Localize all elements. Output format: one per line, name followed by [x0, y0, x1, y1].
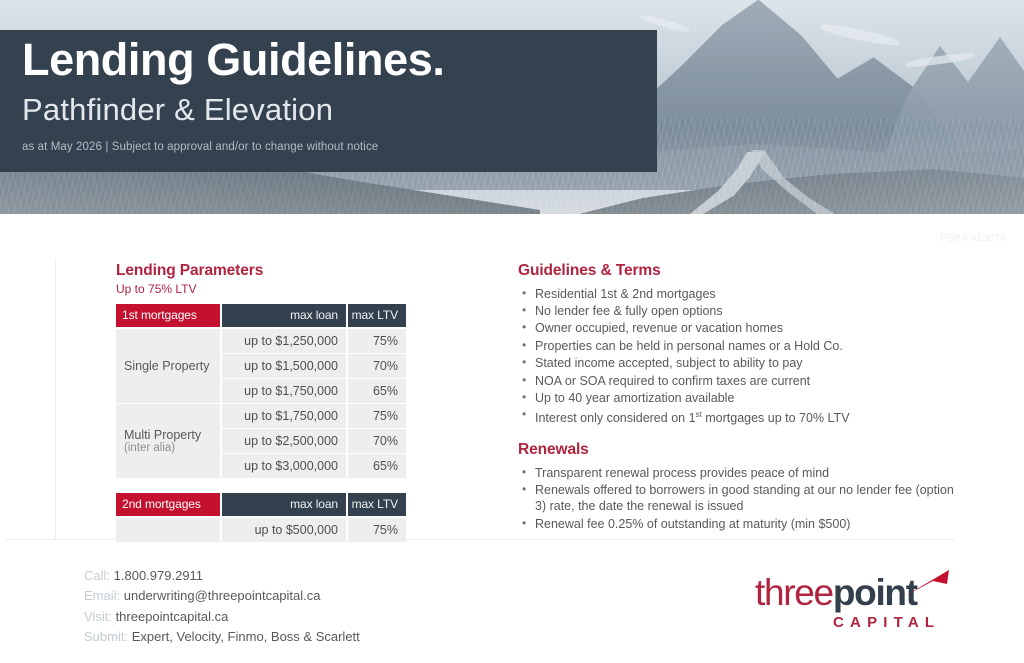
max-ltv-value: 65% [348, 378, 406, 403]
contact-row-email: Email: underwriting@threepointcapital.ca [84, 586, 360, 606]
max-ltv-value: 75% [348, 517, 406, 542]
arrow-icon [903, 568, 951, 598]
second-mortgages-table: 2nd mortgages max loan max LTV up to $50… [116, 493, 406, 542]
lending-parameters-title: Lending Parameters [116, 262, 410, 281]
contact-value-website[interactable]: threepointcapital.ca [116, 609, 229, 624]
max-loan-value: up to $1,750,000 [222, 403, 346, 428]
threepoint-capital-logo: threepoint CAPITAL [755, 570, 965, 640]
interest-only-text-before: Interest only considered on 1 [535, 412, 696, 426]
max-ltv-value: 75% [348, 403, 406, 428]
hero-banner: Lending Guidelines. Pathfinder & Elevati… [0, 0, 1024, 214]
contact-label-visit: Visit: [84, 609, 112, 624]
contact-label-call: Call: [84, 568, 110, 583]
renewals-title: Renewals [518, 441, 958, 460]
category-label: Multi Property [124, 428, 201, 442]
guidelines-title: Guidelines & Terms [518, 262, 958, 281]
disclaimer-note: as at May 2026 | Subject to approval and… [22, 141, 378, 153]
page-subtitle: Pathfinder & Elevation [22, 94, 333, 125]
contact-value-submit-portals: Expert, Velocity, Finmo, Boss & Scarlett [132, 629, 360, 644]
interest-only-text-after: mortgages up to 70% LTV [702, 412, 850, 426]
col-header-max-ltv: max LTV [348, 304, 406, 328]
contact-row-visit: Visit: threepointcapital.ca [84, 607, 360, 627]
contact-block: Call: 1.800.979.2911 Email: underwriting… [84, 566, 360, 647]
category-label: Single Property [124, 359, 209, 373]
list-item: Residential 1st & 2nd mortgages [518, 286, 958, 302]
category-sublabel: (inter alia) [124, 442, 220, 454]
list-item: No lender fee & fully open options [518, 303, 958, 319]
contact-row-submit: Submit: Expert, Velocity, Finmo, Boss & … [84, 627, 360, 647]
max-ltv-value: 65% [348, 453, 406, 478]
col-header-max-loan: max loan [222, 304, 346, 328]
list-item: Properties can be held in personal names… [518, 338, 958, 354]
contact-label-email: Email: [84, 588, 120, 603]
col-header-max-ltv: max LTV [348, 493, 406, 517]
list-item: Owner occupied, revenue or vacation home… [518, 320, 958, 336]
max-loan-value: up to $1,750,000 [222, 378, 346, 403]
logo-wordmark: threepoint [755, 574, 917, 611]
category-empty [116, 517, 220, 542]
list-item: Stated income accepted, subject to abili… [518, 355, 958, 371]
list-item-interest-only: Interest only considered on 1st mortgage… [518, 407, 958, 427]
category-single-property: Single Property [116, 328, 220, 404]
max-ltv-value: 70% [348, 353, 406, 378]
max-loan-value: up to $3,000,000 [222, 453, 346, 478]
contact-label-submit: Submit: [84, 629, 128, 644]
second-mortgages-label: 2nd mortgages [116, 493, 220, 517]
max-loan-value: up to $1,250,000 [222, 328, 346, 354]
first-mortgages-label: 1st mortgages [116, 304, 220, 328]
page-title: Lending Guidelines. [22, 37, 444, 82]
hero-title-panel: Lending Guidelines. Pathfinder & Elevati… [0, 30, 657, 172]
lending-parameters-section: Lending Parameters Up to 75% LTV 1st mor… [116, 262, 410, 542]
lending-parameters-subtitle: Up to 75% LTV [116, 282, 410, 296]
max-loan-value: up to $2,500,000 [222, 428, 346, 453]
contact-row-call: Call: 1.800.979.2911 [84, 566, 360, 586]
list-item: Up to 40 year amortization available [518, 390, 958, 406]
list-item: Transparent renewal process provides pea… [518, 465, 958, 481]
contact-value-email[interactable]: underwriting@threepointcapital.ca [124, 588, 321, 603]
logo-tagline: CAPITAL [833, 614, 940, 631]
table-row: up to $500,000 75% [116, 517, 406, 542]
max-loan-value: up to $1,500,000 [222, 353, 346, 378]
list-item: NOA or SOA required to confirm taxes are… [518, 373, 958, 389]
col-header-max-loan: max loan [222, 493, 346, 517]
table-row: Multi Property (inter alia) up to $1,750… [116, 403, 406, 428]
first-mortgages-table: 1st mortgages max loan max LTV Single Pr… [116, 304, 406, 478]
renewals-list: Transparent renewal process provides pea… [518, 465, 958, 533]
guidelines-section: Guidelines & Terms Residential 1st & 2nd… [518, 262, 958, 533]
table-row: Single Property up to $1,250,000 75% [116, 328, 406, 354]
contact-value-phone[interactable]: 1.800.979.2911 [114, 568, 203, 583]
fsra-license-number: FSRA #13070 [940, 233, 1006, 244]
max-ltv-value: 70% [348, 428, 406, 453]
lending-guidelines-page: Lending Guidelines. Pathfinder & Elevati… [0, 0, 1024, 663]
category-multi-property: Multi Property (inter alia) [116, 403, 220, 478]
table-header-row: 1st mortgages max loan max LTV [116, 304, 406, 328]
guidelines-list: Residential 1st & 2nd mortgages No lende… [518, 286, 958, 427]
table-header-row: 2nd mortgages max loan max LTV [116, 493, 406, 517]
list-item: Renewals offered to borrowers in good st… [518, 482, 958, 515]
list-item: Renewal fee 0.25% of outstanding at matu… [518, 516, 958, 532]
logo-word-three: three [755, 572, 833, 613]
max-ltv-value: 75% [348, 328, 406, 354]
vertical-divider [55, 258, 56, 540]
max-loan-value: up to $500,000 [222, 517, 346, 542]
